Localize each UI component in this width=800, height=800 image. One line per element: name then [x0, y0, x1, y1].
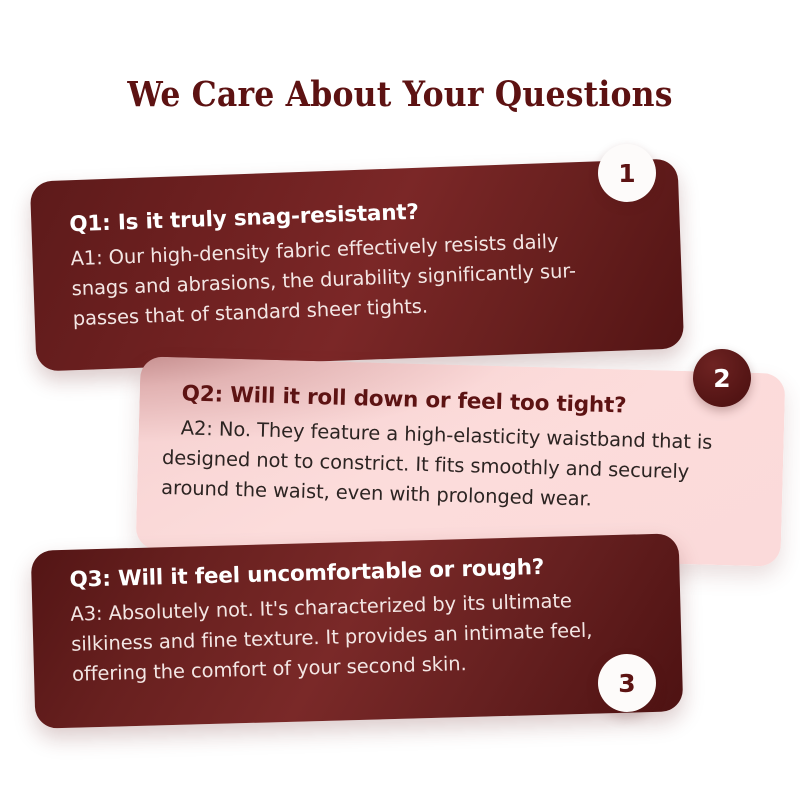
faq-badge-3: 3: [598, 654, 656, 712]
faq-answer-2: A2: No. They feature a high-elasticity w…: [161, 413, 713, 518]
faq-answer-1: A1: Our high-density fabric effectively …: [70, 226, 577, 334]
faq-card-2[interactable]: Q2: Will it roll down or feel too tight?…: [136, 356, 786, 566]
faq-card-3-surface: Q3: Will it feel uncomfortable or rough?…: [31, 533, 684, 728]
faq-question-3: Q3: Will it feel uncomfortable or rough?: [69, 555, 544, 593]
faq-card-3[interactable]: Q3: Will it feel uncomfortable or rough?…: [31, 533, 684, 728]
faq-card-1-surface: Q1: Is it truly snag-resistant? A1: Our …: [30, 158, 684, 371]
faq-graphic: We Care About Your Questions Q1: Is it t…: [0, 0, 800, 800]
faq-question-2: Q2: Will it roll down or feel too tight?: [181, 381, 626, 418]
faq-question-1: Q1: Is it truly snag-resistant?: [69, 200, 419, 237]
faq-answer-3: A3: Absolutely not. It's characterized b…: [70, 586, 593, 690]
faq-badge-2: 2: [693, 349, 751, 407]
faq-badge-1: 1: [598, 144, 656, 202]
faq-card-1[interactable]: Q1: Is it truly snag-resistant? A1: Our …: [30, 158, 684, 371]
page-title: We Care About Your Questions: [40, 74, 760, 115]
faq-card-2-surface: Q2: Will it roll down or feel too tight?…: [136, 356, 786, 566]
